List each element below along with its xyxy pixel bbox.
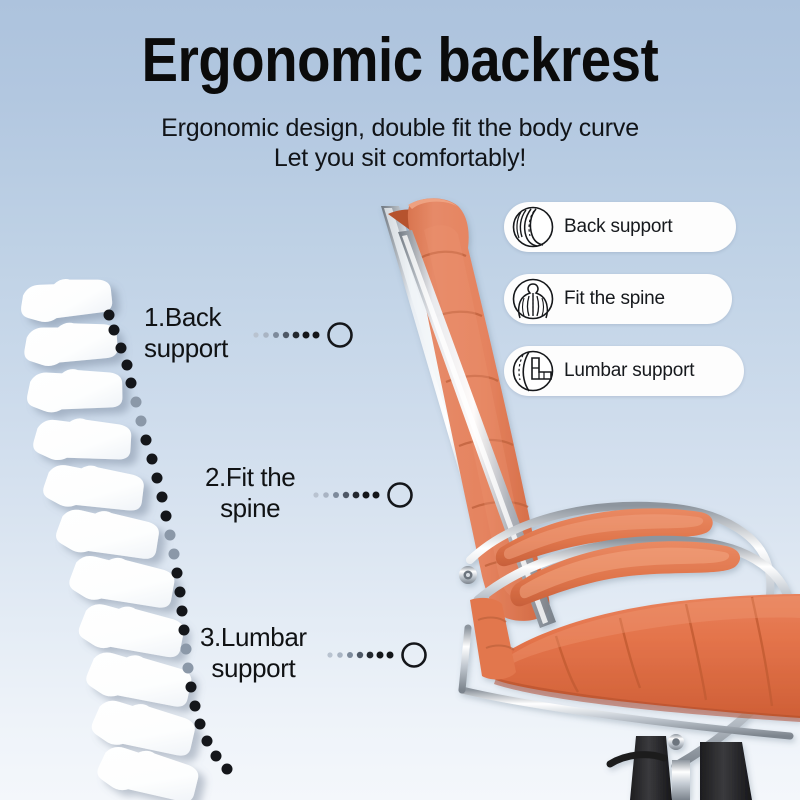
leader-line-1 — [253, 324, 351, 347]
feature-badge-back-support: Back support — [504, 202, 736, 252]
feature-badge-lumbar-support: Lumbar support — [504, 346, 744, 396]
callout-3-line-2: support — [200, 653, 307, 684]
back-profile-icon — [510, 204, 556, 250]
callout-3-line-1: 3.Lumbar — [200, 622, 307, 652]
feature-badge-label: Back support — [564, 216, 673, 238]
callout-label-2: 2.Fit the spine — [205, 462, 295, 523]
callout-1-line-2: support — [144, 333, 228, 364]
leader-line-2 — [313, 484, 411, 507]
callout-2-line-2: spine — [205, 493, 295, 524]
seated-lumbar-icon — [510, 348, 556, 394]
subtitle-line-1: Ergonomic design, double fit the body cu… — [0, 114, 800, 143]
leader-line-3 — [327, 644, 425, 667]
subtitle-line-2: Let you sit comfortably! — [0, 144, 800, 173]
feature-badge-label: Lumbar support — [564, 360, 694, 382]
feature-badge-label: Fit the spine — [564, 288, 665, 310]
page-title: Ergonomic backrest — [48, 28, 752, 93]
torso-spine-icon — [510, 276, 556, 322]
product-infographic-poster: Ergonomic backrest Ergonomic design, dou… — [0, 0, 800, 800]
feature-badge-list: Back support Fit the spine — [504, 202, 754, 418]
callout-1-line-1: 1.Back — [144, 302, 221, 332]
callout-label-1: 1.Back support — [144, 302, 228, 363]
callout-2-line-1: 2.Fit the — [205, 462, 295, 492]
callout-label-3: 3.Lumbar support — [200, 622, 307, 683]
feature-badge-fit-the-spine: Fit the spine — [504, 274, 732, 324]
